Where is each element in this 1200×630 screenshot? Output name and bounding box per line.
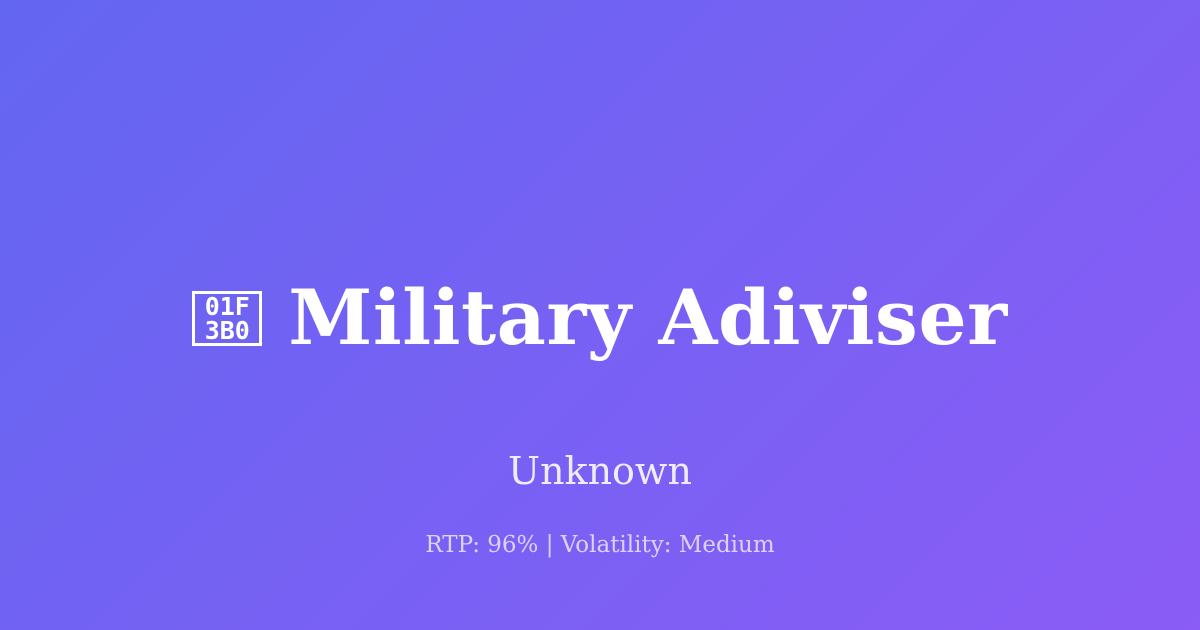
provider-subtitle: Unknown (508, 451, 692, 493)
og-preview-card: 01F 3B0 Military Adiviser Unknown RTP: 9… (0, 0, 1200, 630)
game-stats-line: RTP: 96% | Volatility: Medium (0, 532, 1200, 560)
page-title: Military Adiviser (288, 279, 1007, 357)
title-row: 01F 3B0 Military Adiviser (192, 228, 1007, 407)
slot-machine-icon: 01F 3B0 (192, 291, 262, 346)
tofu-codepoint-bottom: 3B0 (205, 319, 250, 343)
